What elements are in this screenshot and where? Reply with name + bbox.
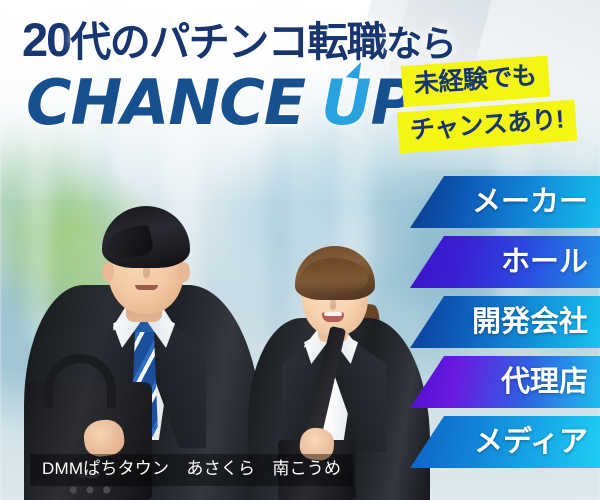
category-item-maker[interactable]: メーカー: [410, 176, 600, 228]
category-label: メーカー: [472, 188, 588, 217]
male-mouth: [135, 285, 158, 290]
male-ear-left: [102, 262, 114, 282]
recruitment-banner[interactable]: 20代のパチンコ転職なら CHANCE UP 未経験でも チャンスあり! メーカ…: [0, 0, 600, 500]
headline-tail: なら: [386, 23, 455, 64]
male-ear-right: [178, 262, 190, 282]
people-photo: [0, 140, 430, 500]
headline: 20代のパチンコ転職なら: [22, 16, 455, 63]
chance-up-logo: CHANCE UP: [26, 72, 415, 144]
category-label: ホール: [501, 248, 588, 277]
male-model: [18, 140, 268, 500]
female-nose: [330, 299, 336, 310]
up-arrow-icon: [346, 60, 361, 79]
headline-number: 20: [22, 13, 70, 66]
category-item-development-company[interactable]: 開発会社: [410, 296, 600, 348]
female-bangs: [300, 258, 368, 294]
category-item-hall[interactable]: ホール: [410, 236, 600, 288]
category-label: メディア: [474, 428, 588, 457]
headline-middle: 代のパチンコ転職: [70, 19, 386, 65]
category-item-media[interactable]: メディア: [410, 416, 600, 468]
logo-word-chance: CHANCE: [26, 72, 305, 134]
category-label: 代理店: [501, 368, 588, 397]
category-item-agency[interactable]: 代理店: [410, 356, 600, 408]
male-hair: [102, 206, 190, 268]
male-briefcase-studs: [68, 486, 112, 494]
category-list: メーカー ホール 開発会社 代理店 メディア: [410, 176, 600, 468]
credits-caption: DMMぱちタウン あさくら 南こうめ: [30, 454, 353, 486]
female-teeth: [324, 312, 342, 316]
category-label: 開発会社: [472, 308, 588, 337]
